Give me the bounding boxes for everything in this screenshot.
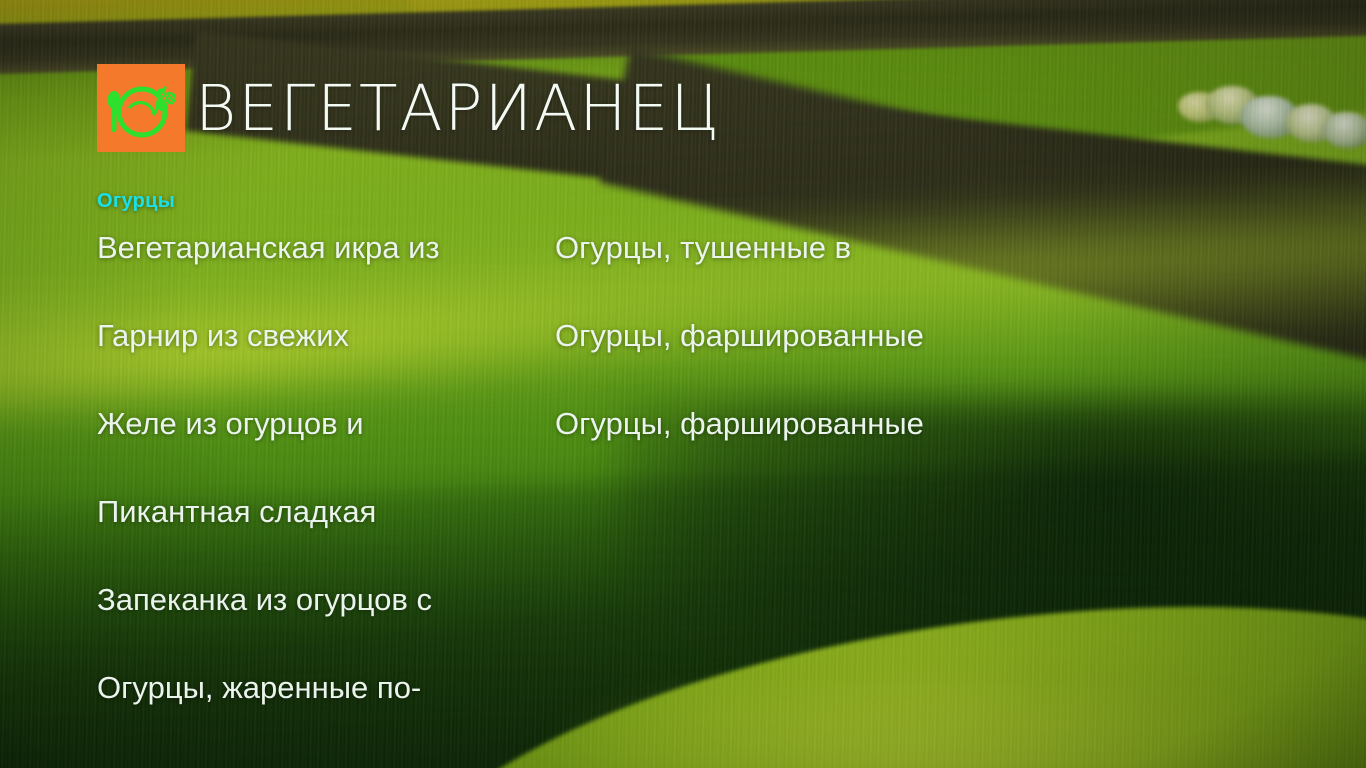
recipe-column-left: Вегетарианская икра из Гарнир из свежих … <box>97 232 537 760</box>
recipe-link[interactable]: Огурцы, жаренные по- <box>97 672 537 760</box>
site-header: ВЕГЕТАРИАНЕЦ <box>97 64 721 152</box>
slide-content: ВЕГЕТАРИАНЕЦ Огурцы Вегетарианская икра … <box>0 0 1366 768</box>
recipe-link[interactable]: Гарнир из свежих <box>97 320 537 408</box>
category-heading: Огурцы <box>97 190 175 213</box>
plate-spoon-leaf-icon <box>97 64 185 152</box>
recipe-link[interactable]: Огурцы, фаршированные <box>555 320 1015 408</box>
recipe-link[interactable]: Запеканка из огурцов с <box>97 584 537 672</box>
recipe-column-right: Огурцы, тушенные в Огурцы, фаршированные… <box>555 232 1015 496</box>
recipe-link[interactable]: Огурцы, фаршированные <box>555 408 1015 496</box>
recipe-link[interactable]: Огурцы, тушенные в <box>555 232 1015 320</box>
recipe-link[interactable]: Вегетарианская икра из <box>97 232 537 320</box>
site-title: ВЕГЕТАРИАНЕЦ <box>195 77 721 140</box>
site-logo[interactable] <box>97 64 185 152</box>
recipe-link[interactable]: Желе из огурцов и <box>97 408 537 496</box>
recipe-link[interactable]: Пикантная сладкая <box>97 496 537 584</box>
slide-page: ВЕГЕТАРИАНЕЦ Огурцы Вегетарианская икра … <box>0 0 1366 768</box>
